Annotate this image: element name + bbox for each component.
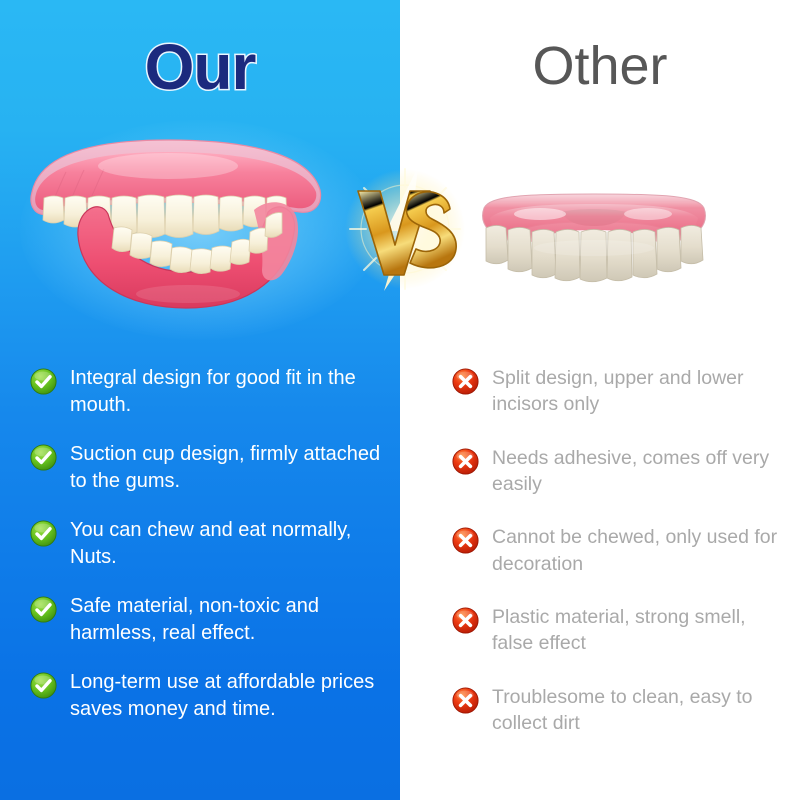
list-item: You can chew and eat normally, Nuts. — [30, 517, 390, 571]
check-circle-icon — [30, 596, 57, 623]
check-circle-icon — [30, 368, 57, 395]
list-item: Troublesome to clean, easy to collect di… — [452, 684, 792, 737]
other-title: Other — [400, 38, 800, 95]
list-item-text: Suction cup design, firmly attached to t… — [70, 441, 390, 495]
list-item: Split design, upper and lower incisors o… — [452, 365, 792, 418]
other-feature-list: Split design, upper and lower incisors o… — [452, 365, 792, 763]
list-item: Plastic material, strong smell, false ef… — [452, 604, 792, 657]
list-item: Safe material, non-toxic and harmless, r… — [30, 593, 390, 647]
list-item-text: Plastic material, strong smell, false ef… — [492, 604, 792, 657]
list-item-text: Troublesome to clean, easy to collect di… — [492, 684, 792, 737]
list-item-text: Integral design for good fit in the mout… — [70, 365, 390, 419]
comparison-infographic: Our Other — [0, 0, 800, 800]
list-item-text: Needs adhesive, comes off very easily — [492, 445, 792, 498]
list-item: Long-term use at affordable prices saves… — [30, 669, 390, 723]
check-circle-icon — [30, 520, 57, 547]
list-item: Cannot be chewed, only used for decorati… — [452, 524, 792, 577]
cross-circle-icon — [452, 368, 479, 395]
list-item: Needs adhesive, comes off very easily — [452, 445, 792, 498]
list-item: Suction cup design, firmly attached to t… — [30, 441, 390, 495]
list-item-text: You can chew and eat normally, Nuts. — [70, 517, 390, 571]
our-denture-image — [18, 132, 358, 317]
other-denture-image — [470, 178, 718, 298]
cross-circle-icon — [452, 607, 479, 634]
list-item-text: Cannot be chewed, only used for decorati… — [492, 524, 792, 577]
check-circle-icon — [30, 444, 57, 471]
cross-circle-icon — [452, 448, 479, 475]
list-item-text: Safe material, non-toxic and harmless, r… — [70, 593, 390, 647]
cross-circle-icon — [452, 527, 479, 554]
list-item-text: Long-term use at affordable prices saves… — [70, 669, 390, 723]
our-feature-list: Integral design for good fit in the mout… — [30, 365, 390, 745]
vs-badge: VS — [340, 163, 470, 295]
list-item: Integral design for good fit in the mout… — [30, 365, 390, 419]
list-item-text: Split design, upper and lower incisors o… — [492, 365, 792, 418]
our-title: Our — [0, 34, 400, 101]
cross-circle-icon — [452, 687, 479, 714]
check-circle-icon — [30, 672, 57, 699]
